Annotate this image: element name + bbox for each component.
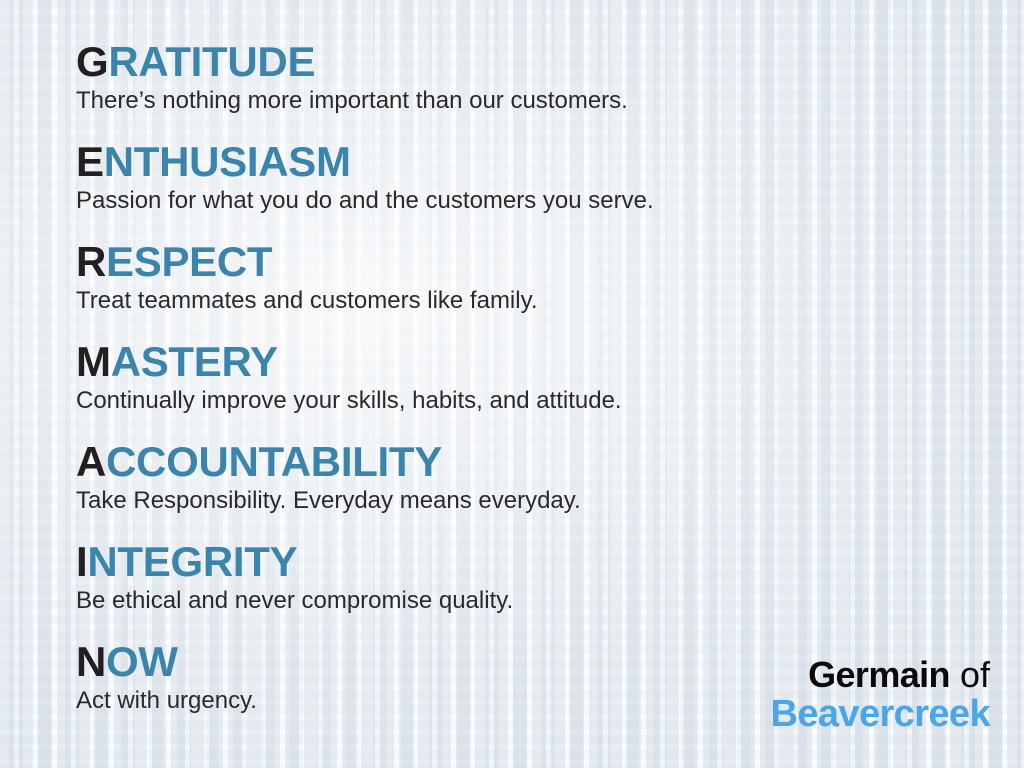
value-heading-rest: OW	[106, 638, 178, 685]
poster-content: GRATITUDE There’s nothing more important…	[0, 0, 1024, 768]
values-poster: GRATITUDE There’s nothing more important…	[0, 0, 1024, 768]
value-description: Passion for what you do and the customer…	[76, 186, 654, 216]
value-row: NOW Act with urgency.	[76, 640, 257, 716]
value-row: ENTHUSIASM Passion for what you do and t…	[76, 140, 654, 216]
value-initial-letter: I	[76, 538, 87, 585]
value-initial-letter: E	[76, 138, 104, 185]
logo-brand-name: Germain	[808, 654, 950, 695]
value-heading-rest: NTHUSIASM	[104, 138, 351, 185]
value-heading-rest: NTEGRITY	[87, 538, 297, 585]
value-description: Continually improve your skills, habits,…	[76, 386, 622, 416]
value-heading: NOW	[76, 640, 257, 684]
value-heading: INTEGRITY	[76, 540, 513, 584]
value-description: Treat teammates and customers like famil…	[76, 286, 537, 316]
value-heading: ENTHUSIASM	[76, 140, 654, 184]
value-initial-letter: M	[76, 338, 111, 385]
value-heading-rest: ESPECT	[106, 238, 272, 285]
dealership-logo: Germain of Beavercreek	[771, 656, 991, 734]
value-heading: MASTERY	[76, 340, 622, 384]
value-heading: RESPECT	[76, 240, 537, 284]
value-heading: GRATITUDE	[76, 40, 628, 84]
value-heading-rest: CCOUNTABILITY	[106, 438, 442, 485]
value-initial-letter: G	[76, 38, 108, 85]
value-initial-letter: R	[76, 238, 106, 285]
logo-line-primary: Germain of	[771, 656, 991, 694]
value-row: MASTERY Continually improve your skills,…	[76, 340, 622, 416]
value-row: INTEGRITY Be ethical and never compromis…	[76, 540, 513, 616]
value-description: Be ethical and never compromise quality.	[76, 586, 513, 616]
value-row: ACCOUNTABILITY Take Responsibility. Ever…	[76, 440, 581, 516]
value-row: RESPECT Treat teammates and customers li…	[76, 240, 537, 316]
value-row: GRATITUDE There’s nothing more important…	[76, 40, 628, 116]
logo-connector-word: of	[960, 654, 990, 695]
logo-location-name: Beavercreek	[771, 694, 991, 734]
value-heading-rest: ASTERY	[111, 338, 278, 385]
value-heading-rest: RATITUDE	[108, 38, 315, 85]
value-description: Take Responsibility. Everyday means ever…	[76, 486, 581, 516]
value-heading: ACCOUNTABILITY	[76, 440, 581, 484]
value-initial-letter: N	[76, 638, 106, 685]
value-description: There’s nothing more important than our …	[76, 86, 628, 116]
value-initial-letter: A	[76, 438, 106, 485]
value-description: Act with urgency.	[76, 686, 257, 716]
